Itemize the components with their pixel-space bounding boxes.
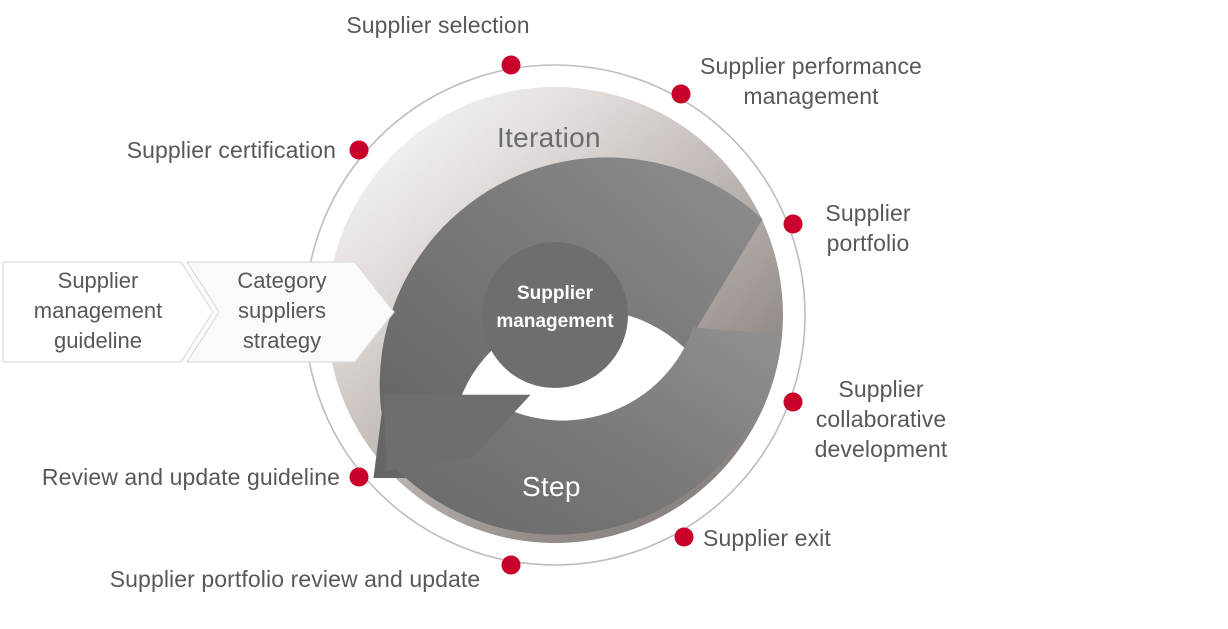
milestone-dot-supplier-portfolio[interactable] (784, 215, 803, 234)
milestone-dots-layer (0, 0, 1228, 629)
milestone-dot-supplier-portfolio-review-and-update[interactable] (502, 556, 521, 575)
milestone-dot-supplier-certification[interactable] (350, 141, 369, 160)
milestone-dot-supplier-selection[interactable] (502, 56, 521, 75)
diagram-canvas: Iteration Step Supplier management Suppl… (0, 0, 1228, 629)
milestone-dot-supplier-exit[interactable] (675, 528, 694, 547)
milestone-dot-review-and-update-guideline[interactable] (350, 468, 369, 487)
milestone-dot-supplier-collaborative-development[interactable] (784, 393, 803, 412)
milestone-dot-supplier-performance-management[interactable] (672, 85, 691, 104)
